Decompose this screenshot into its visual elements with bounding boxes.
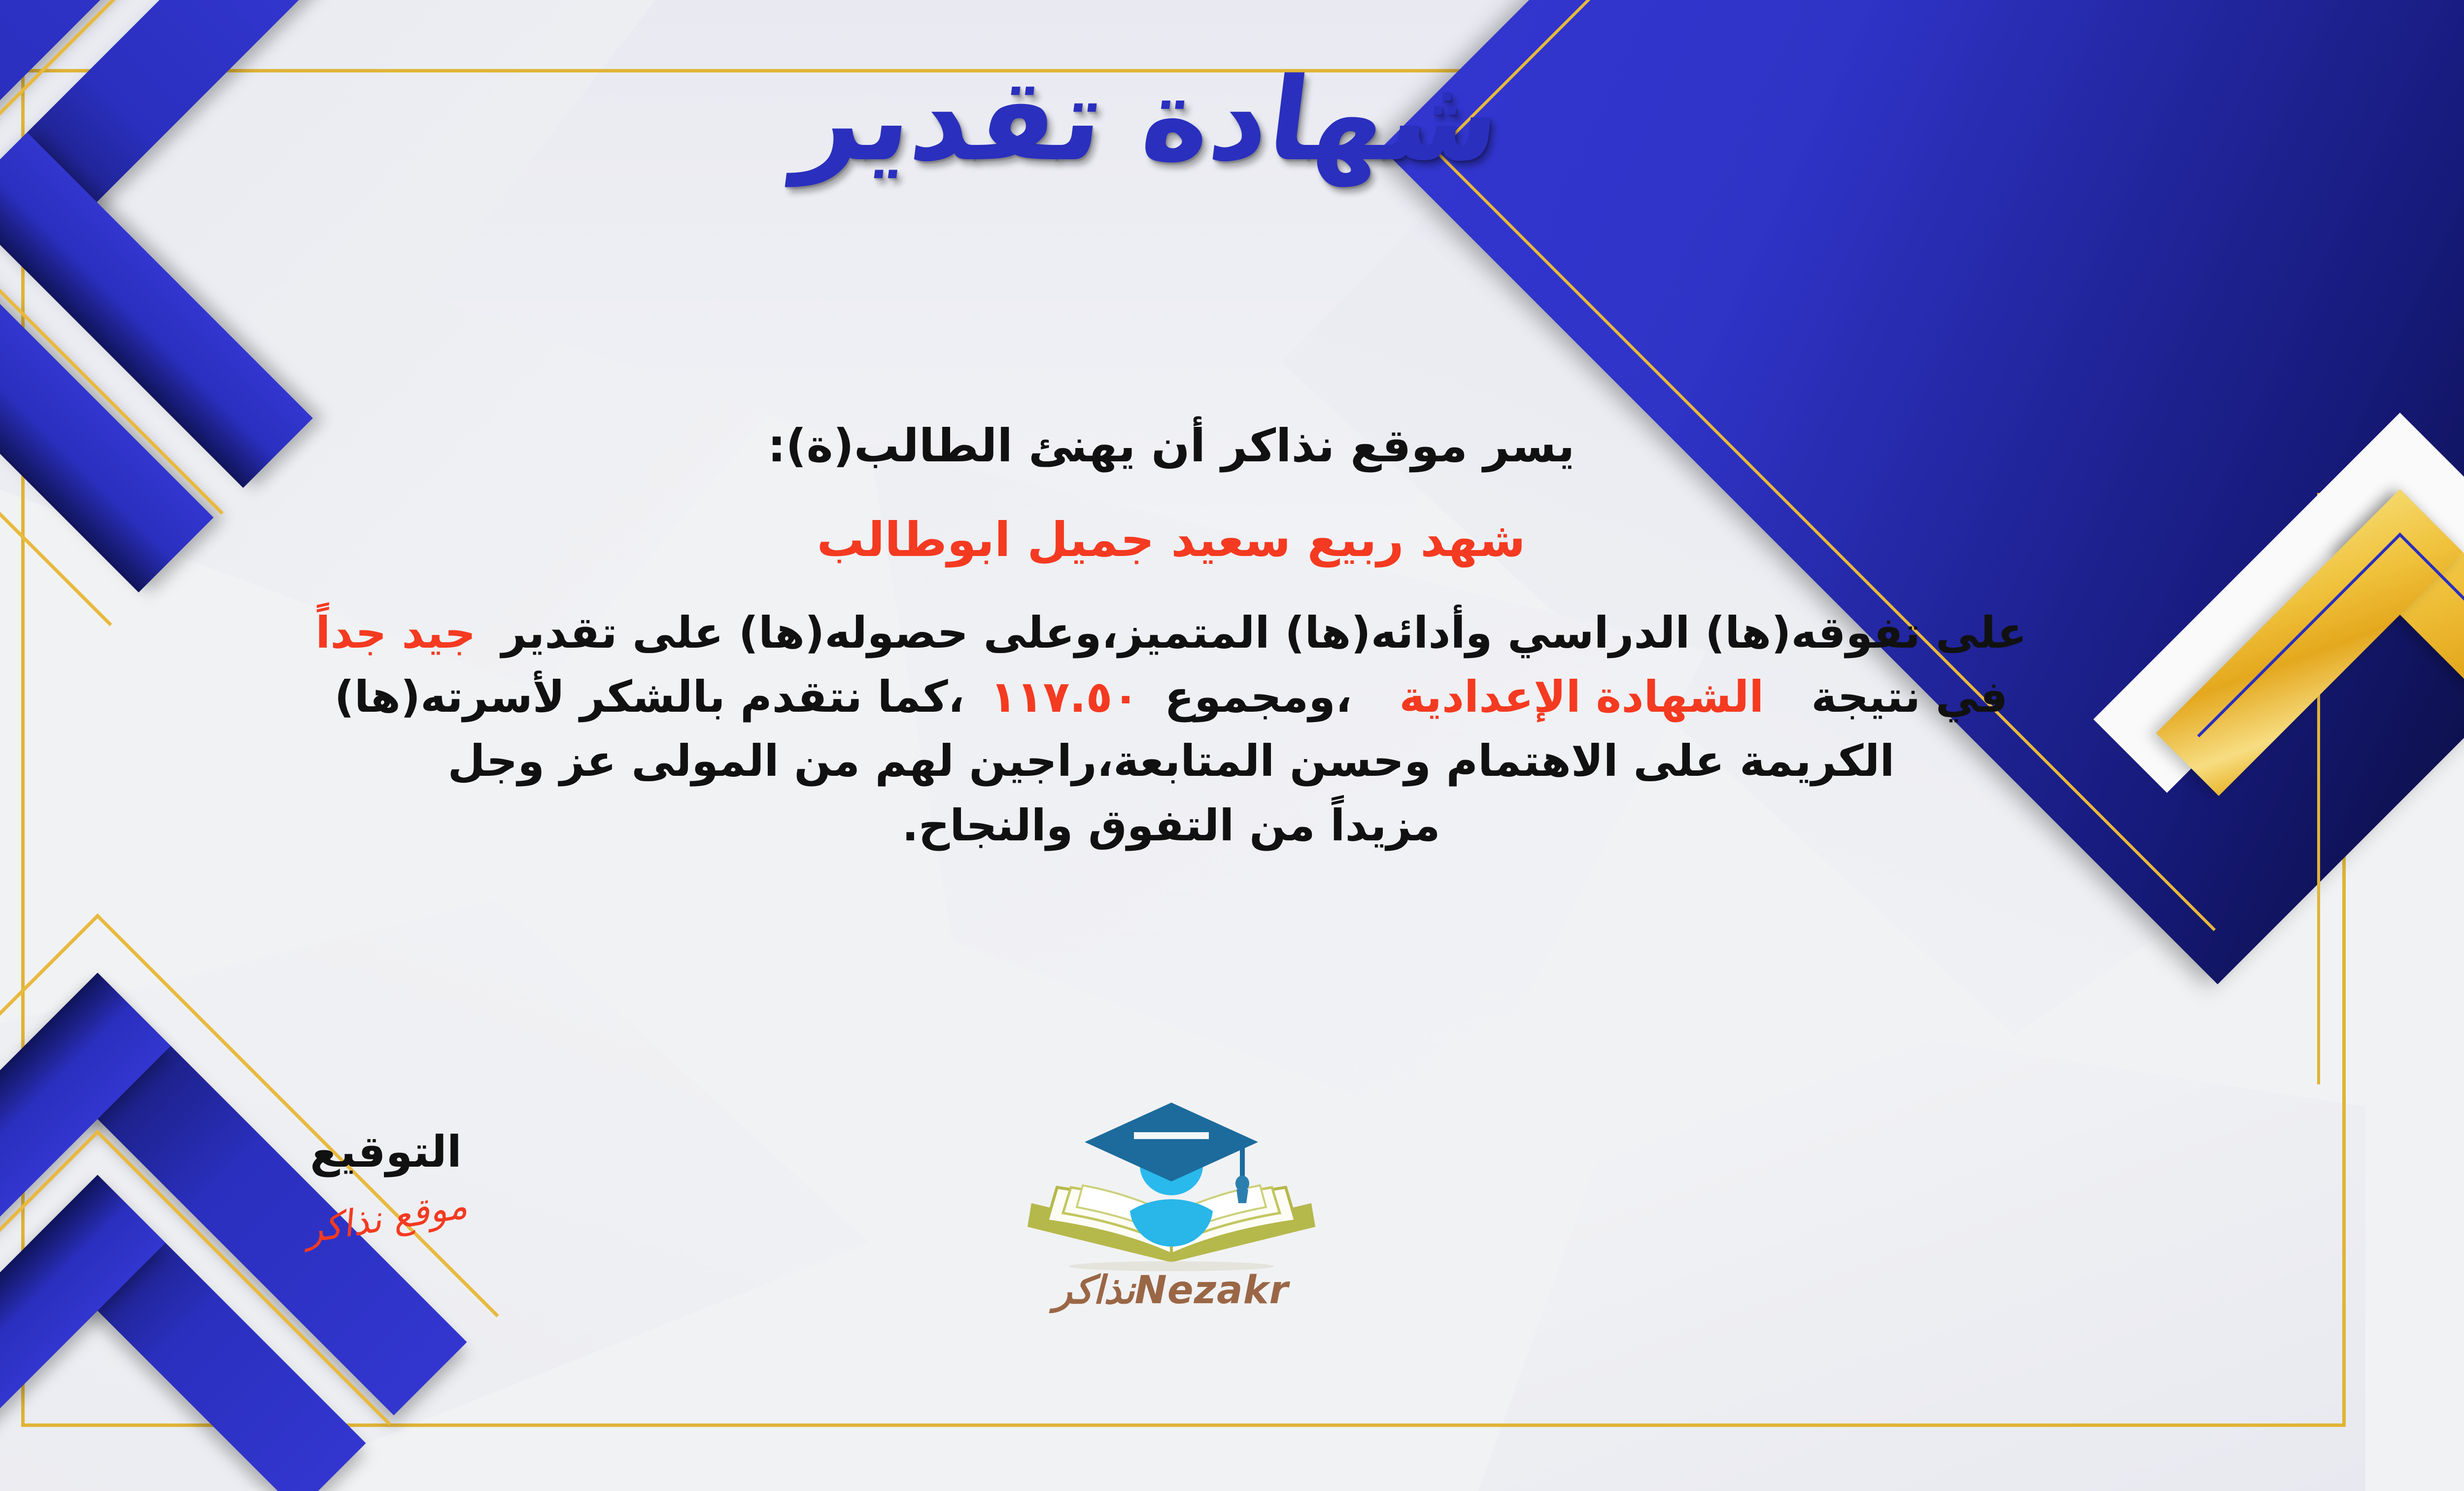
logo-graphic — [1014, 1097, 1329, 1274]
paragraph-text: على تفوقه(ها) الدراسي وأدائه(ها) المتميز… — [501, 607, 2026, 658]
certificate-page: شهادة تقدير يسر موقع نذاكر أن يهنئ الطال… — [0, 0, 2464, 1491]
paragraph-line-1: على تفوقه(ها) الدراسي وأدائه(ها) المتميز… — [41, 601, 2301, 665]
title-area: شهادة تقدير — [0, 54, 2464, 186]
exam-name: الشهادة الإعدادية — [1399, 671, 1764, 722]
certificate-body: يسر موقع نذاكر أن يهنئ الطالب(ة): شهد رب… — [41, 414, 2301, 858]
signature-block: التوقيع موقع نذاكر — [248, 1126, 524, 1239]
paragraph-text: ،كما نتقدم بالشكر لأسرته(ها) — [335, 671, 965, 722]
paragraph-text: ،ومجموع — [1164, 671, 1352, 722]
page-title: شهادة تقدير — [790, 54, 1508, 186]
paragraph-line-4: مزيداً من التفوق والنجاح. — [41, 794, 2301, 858]
paragraph-text: في نتيجة — [1811, 671, 2008, 722]
site-logo: Nezakrنذاكر — [1014, 1097, 1329, 1313]
signature-label: التوقيع — [248, 1126, 524, 1177]
signature-mark: موقع نذاكر — [302, 1184, 470, 1252]
student-name: شهد ربيع سعيد جميل ابوطالب — [41, 506, 2301, 573]
paragraph-line-2: في نتيجةالشهادة الإعدادية،ومجموع١١٧.٥٠،ك… — [41, 665, 2301, 729]
total-score: ١١٧.٥٠ — [990, 671, 1139, 722]
paragraph-line-3: الكريمة على الاهتمام وحسن المتابعة،راجين… — [41, 729, 2301, 793]
certificate-footer: التوقيع موقع نذاكر — [41, 1097, 2301, 1402]
logo-wordmark: Nezakrنذاكر — [1014, 1268, 1329, 1313]
logo-wordmark-latin: Nezakr — [1134, 1268, 1289, 1313]
logo-wordmark-arabic: نذاكر — [1054, 1268, 1135, 1313]
greeting-line: يسر موقع نذاكر أن يهنئ الطالب(ة): — [41, 414, 2301, 479]
grade-value: جيد جداً — [315, 607, 476, 658]
